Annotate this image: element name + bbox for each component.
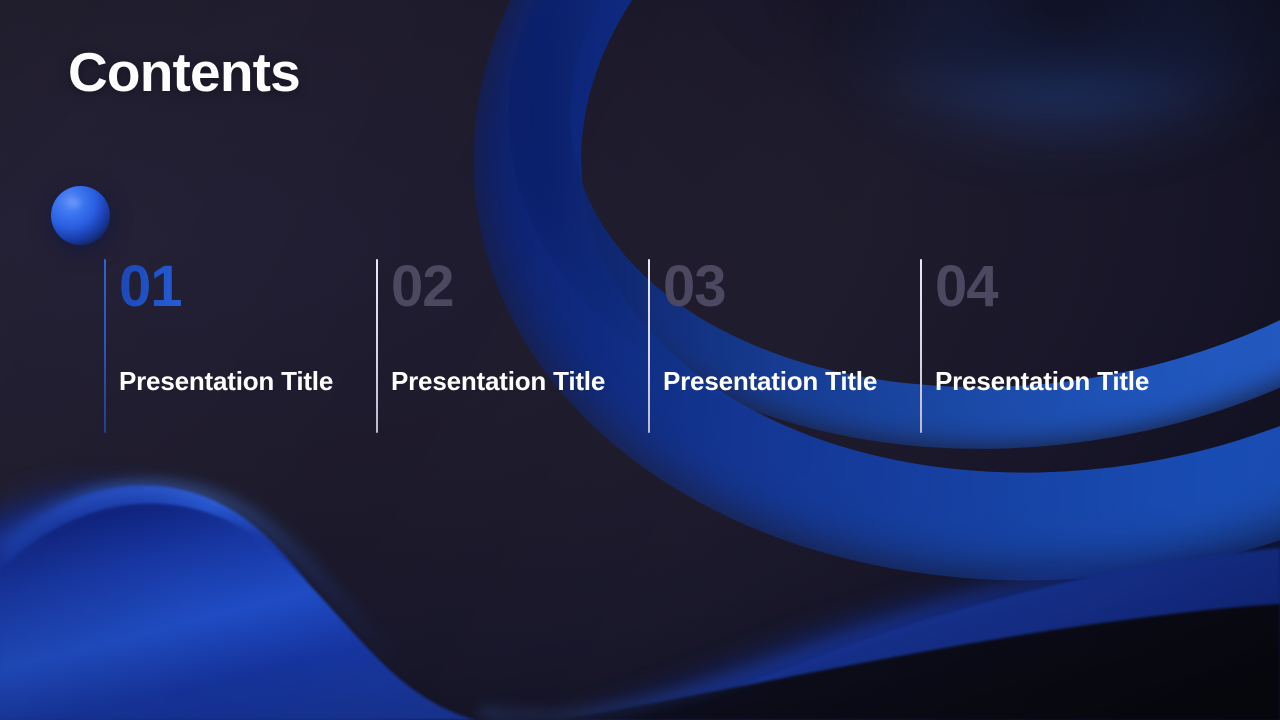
contents-item-02[interactable]: 02 Presentation Title [376, 258, 648, 316]
column-divider-rule [920, 259, 922, 433]
page-title: Contents [68, 44, 300, 102]
contents-item-number: 03 [663, 258, 920, 316]
sphere-specular-highlight [63, 194, 87, 212]
contents-item-01[interactable]: 01 Presentation Title [104, 258, 376, 316]
contents-slide: Contents 01 Presentation Title 02 Presen… [0, 0, 1280, 720]
column-divider-rule [104, 259, 106, 433]
column-divider-rule [376, 259, 378, 433]
contents-item-number: 01 [119, 258, 376, 316]
contents-item-03[interactable]: 03 Presentation Title [648, 258, 920, 316]
contents-item-title: Presentation Title [391, 360, 611, 402]
contents-item-title: Presentation Title [119, 360, 339, 402]
contents-item-title: Presentation Title [935, 360, 1155, 402]
contents-item-number: 02 [391, 258, 648, 316]
contents-item-04[interactable]: 04 Presentation Title [920, 258, 1192, 316]
contents-item-number: 04 [935, 258, 1192, 316]
contents-item-title: Presentation Title [663, 360, 883, 402]
column-divider-rule [648, 259, 650, 433]
blue-sphere [51, 186, 110, 245]
contents-list: 01 Presentation Title 02 Presentation Ti… [104, 258, 1192, 316]
